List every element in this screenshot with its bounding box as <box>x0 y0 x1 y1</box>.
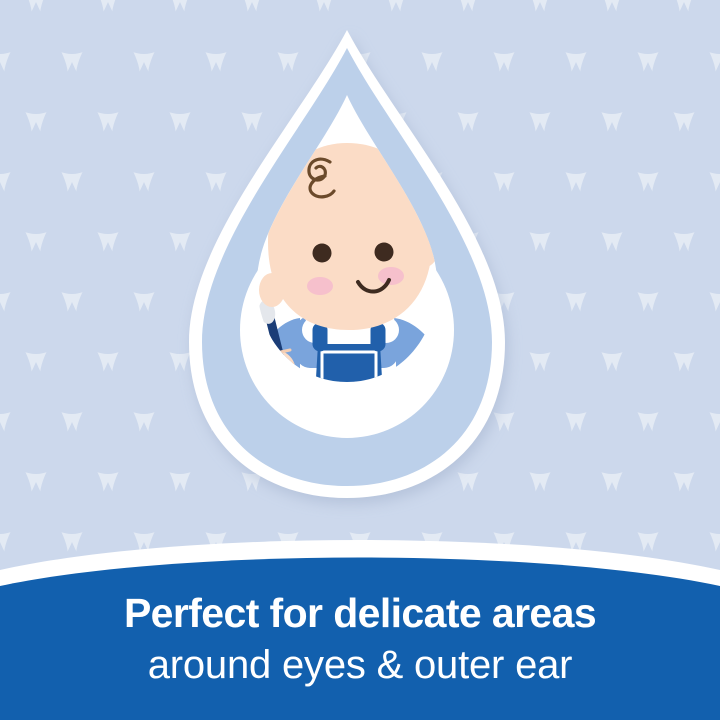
banner-blue <box>0 558 720 720</box>
left-blush <box>307 277 333 295</box>
left-eye <box>313 244 332 263</box>
illustration-canvas <box>0 0 720 720</box>
right-eye <box>375 243 394 262</box>
bottom-banner <box>0 540 720 720</box>
promo-image: Perfect for delicate areas around eyes &… <box>0 0 720 720</box>
right-blush <box>378 267 404 285</box>
